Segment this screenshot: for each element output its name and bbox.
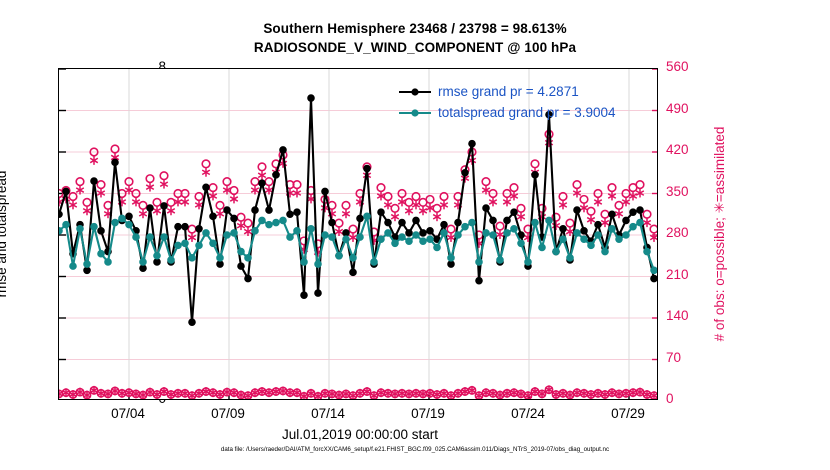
legend-item: rmse grand pr = 4.2871	[398, 81, 623, 102]
data-file-footer: data file: /Users/raeder/DAI/ATM_forcXX/…	[0, 446, 830, 453]
y-axis-label: rmse and totalspread	[0, 68, 12, 400]
chart-title: Southern Hemisphere 23468 / 23798 = 98.6…	[0, 0, 830, 55]
legend-marker-icon	[398, 105, 432, 121]
x-tick-label: 07/29	[593, 406, 663, 421]
y2-tick-label: 560	[666, 59, 712, 74]
legend-label: rmse grand pr = 4.2871	[438, 84, 579, 99]
x-tick-label: 07/09	[193, 406, 263, 421]
x-axis-label: Jul.01,2019 00:00:00 start	[0, 427, 720, 442]
y2-tick-label: 350	[666, 184, 712, 199]
legend-item: totalspread grand pr = 3.9004	[398, 102, 623, 123]
chart-title-line1: Southern Hemisphere 23468 / 23798 = 98.6…	[0, 21, 830, 36]
x-tick-label: 07/14	[293, 406, 363, 421]
chart-title-line2: RADIOSONDE_V_WIND_COMPONENT @ 100 hPa	[0, 40, 830, 55]
y2-tick-label: 490	[666, 101, 712, 116]
y2-tick-label: 280	[666, 225, 712, 240]
chart-figure: Southern Hemisphere 23468 / 23798 = 98.6…	[0, 0, 830, 470]
y2-tick-label: 70	[666, 350, 712, 365]
y2-tick-label: 420	[666, 142, 712, 157]
x-tick-label: 07/04	[93, 406, 163, 421]
legend-marker-icon	[398, 84, 432, 100]
y2-tick-label: 140	[666, 308, 712, 323]
x-tick-label: 07/19	[393, 406, 463, 421]
legend-label: totalspread grand pr = 3.9004	[438, 105, 616, 120]
x-tick-label: 07/24	[493, 406, 563, 421]
y2-tick-label: 210	[666, 267, 712, 282]
legend: rmse grand pr = 4.2871totalspread grand …	[398, 81, 623, 123]
y2-tick-label: 0	[666, 391, 712, 406]
y2-axis-label: # of obs: o=possible; ✳=assimilated	[712, 68, 730, 400]
